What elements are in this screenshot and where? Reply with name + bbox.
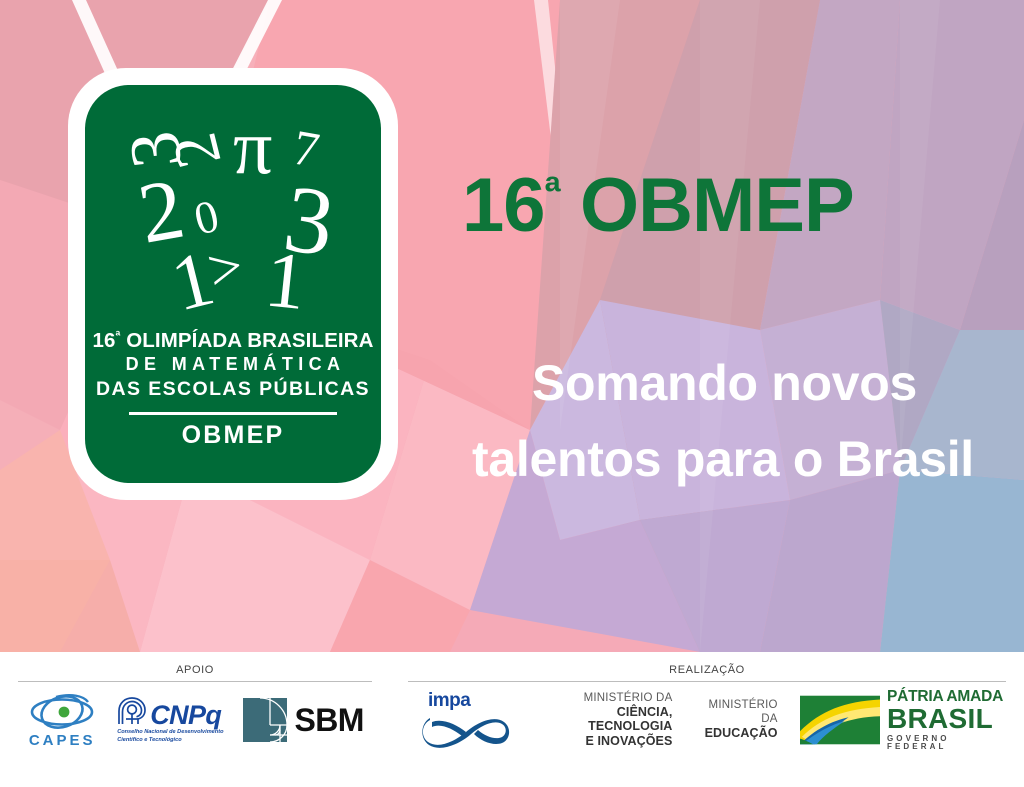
page-title: 16ª OBMEP bbox=[462, 168, 1002, 244]
seal-divider bbox=[129, 412, 337, 415]
capes-green-dot bbox=[59, 707, 70, 718]
seal-acronym: OBMEP bbox=[85, 421, 381, 450]
seal-title-line-3: DAS ESCOLAS PÚBLICAS bbox=[85, 377, 381, 402]
cnpq-head-icon bbox=[116, 695, 148, 727]
mcti-bottom-line-1: CIÊNCIA, TECNOLOGIA bbox=[538, 705, 672, 734]
footer-section-apoio: APOIO CAPES bbox=[0, 652, 390, 787]
capes-logo[interactable]: CAPES bbox=[26, 691, 98, 749]
governo-federal-logo[interactable]: PÁTRIA AMADA BRASIL GOVERNO FEDERAL bbox=[800, 689, 1006, 750]
obmep-poster: 3 2 π 7 2 0 3 1 > 1 16ª OLIMPÍADA BRASIL… bbox=[0, 0, 1024, 787]
capes-eye-icon bbox=[26, 691, 98, 731]
tagline-block: Somando novos talentos para o Brasil bbox=[466, 345, 1011, 497]
sbm-golden-spiral-icon bbox=[242, 697, 288, 743]
impa-logo[interactable]: impa bbox=[420, 690, 516, 750]
seal-title-rest: OLIMPÍADA BRASILEIRA bbox=[120, 329, 373, 352]
governo-federal-wordmark: PÁTRIA AMADA BRASIL GOVERNO FEDERAL bbox=[887, 689, 1006, 750]
seal-title-line-2: DE MATEMÁTICA bbox=[85, 352, 381, 378]
governo-line-3: GOVERNO FEDERAL bbox=[887, 735, 1006, 751]
headline-ordinal: ª bbox=[545, 168, 560, 217]
seal-text-block: 16ª OLIMPÍADA BRASILEIRA DE MATEMÁTICA D… bbox=[85, 329, 381, 450]
cnpq-subtitle: Conselho Nacional de Desenvolvimento Cie… bbox=[117, 729, 223, 744]
mec-top-line: MINISTÉRIO DA bbox=[694, 699, 777, 726]
sbm-wordmark: SBM bbox=[295, 702, 364, 739]
impa-wordmark: impa bbox=[428, 690, 470, 712]
ministerio-educacao-logo[interactable]: MINISTÉRIO DA EDUCAÇÃO bbox=[694, 699, 777, 740]
seal-math-symbols: 3 2 π 7 2 0 3 1 > 1 bbox=[85, 91, 381, 321]
capes-wordmark: CAPES bbox=[29, 732, 96, 749]
math-symbol-1b: 1 bbox=[261, 235, 310, 321]
math-symbol-pi: π bbox=[233, 103, 272, 190]
headline-number: 16 bbox=[462, 163, 545, 248]
ministerio-ciencia-tecnologia-inovacoes-logo[interactable]: MINISTÉRIO DA CIÊNCIA, TECNOLOGIA E INOV… bbox=[538, 692, 672, 749]
seal-edition-number: 16 bbox=[93, 329, 116, 352]
cnpq-logo[interactable]: CNPq Conselho Nacional de Desenvolviment… bbox=[116, 695, 223, 744]
realizacao-logo-row: impa MINISTÉRIO DA CIÊNCIA, TECNOLOGIA E… bbox=[408, 682, 1006, 758]
footer: APOIO CAPES bbox=[0, 652, 1024, 787]
seal-title-line-1: 16ª OLIMPÍADA BRASILEIRA bbox=[85, 329, 381, 352]
impa-mobius-icon bbox=[420, 710, 516, 750]
cnpq-wordmark: CNPq bbox=[150, 703, 221, 727]
seal-green-panel: 3 2 π 7 2 0 3 1 > 1 16ª OLIMPÍADA BRASIL… bbox=[85, 85, 381, 483]
cnpq-subtitle-line-1: Conselho Nacional de Desenvolvimento bbox=[117, 729, 223, 737]
mec-bottom-line-1: EDUCAÇÃO bbox=[694, 726, 777, 741]
realizacao-label: REALIZAÇÃO bbox=[408, 652, 1006, 676]
cnpq-subtitle-line-2: Científico e Tecnológico bbox=[117, 737, 223, 745]
obmep-seal: 3 2 π 7 2 0 3 1 > 1 16ª OLIMPÍADA BRASIL… bbox=[68, 68, 398, 500]
headline-acronym: OBMEP bbox=[560, 163, 854, 248]
mcti-bottom-line-2: E INOVAÇÕES bbox=[538, 734, 672, 749]
governo-line-2: BRASIL bbox=[887, 705, 1006, 734]
tagline-line-1: Somando novos bbox=[466, 345, 1011, 421]
footer-section-realizacao: REALIZAÇÃO impa MINISTÉRIO D bbox=[390, 652, 1024, 787]
sbm-logo[interactable]: SBM bbox=[242, 697, 364, 743]
apoio-logo-row: CAPES CN bbox=[18, 682, 372, 758]
headline-block: 16ª OBMEP bbox=[462, 168, 1002, 244]
brasil-flag-mark-icon bbox=[800, 694, 880, 746]
apoio-label: APOIO bbox=[18, 652, 372, 676]
mcti-top-line: MINISTÉRIO DA bbox=[538, 692, 672, 705]
tagline-line-2: talentos para o Brasil bbox=[466, 421, 1011, 497]
